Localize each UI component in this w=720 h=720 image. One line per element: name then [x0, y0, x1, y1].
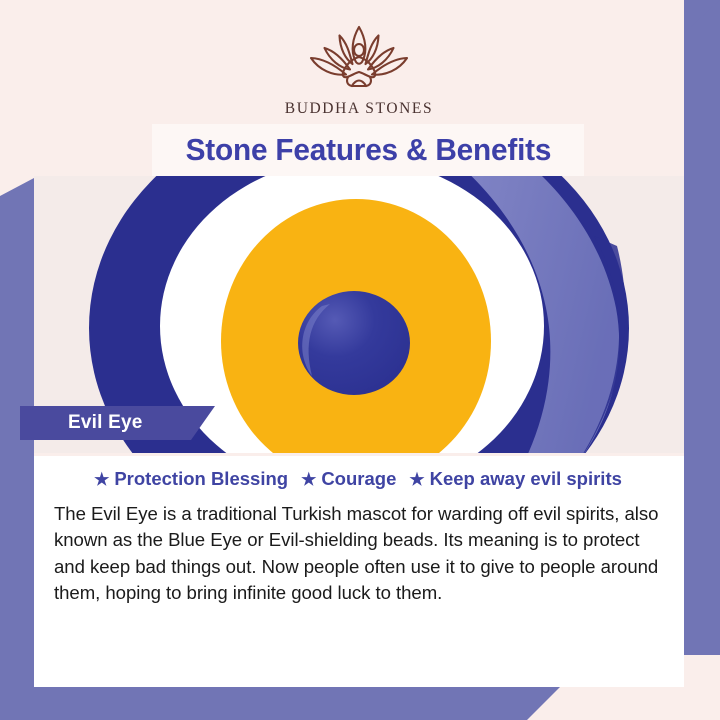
features-list: ★ Protection Blessing ★ Courage ★ Keep a…	[34, 456, 684, 490]
feature-item-protection-blessing: ★ Protection Blessing	[94, 468, 288, 490]
brand-wordmark: BUDDHA STONES	[285, 100, 433, 118]
page-title: Stone Features & Benefits	[185, 132, 551, 168]
title-plate: Stone Features & Benefits	[152, 124, 584, 176]
star-icon: ★	[409, 471, 424, 488]
feature-item-keep-away-evil-spirits: ★ Keep away evil spirits	[409, 468, 624, 490]
decor-band-left	[0, 178, 34, 720]
description-text: The Evil Eye is a traditional Turkish ma…	[54, 501, 664, 607]
feature-item-courage: ★ Courage	[301, 468, 396, 490]
content-card: ★ Protection Blessing ★ Courage ★ Keep a…	[34, 456, 684, 687]
evil-eye-name-tag: Evil Eye	[20, 406, 215, 440]
evil-eye-label: Evil Eye	[20, 412, 142, 434]
feature-label: Protection Blessing	[114, 468, 288, 490]
feature-label: Keep away evil spirits	[430, 468, 622, 490]
star-icon: ★	[94, 471, 109, 488]
brand-logo: BUDDHA STONES	[34, 22, 684, 118]
lotus-meditation-icon	[300, 22, 418, 96]
star-icon: ★	[301, 471, 316, 488]
poster-root: BUDDHA STONES Stone Features & Benefits	[0, 0, 720, 720]
decor-band-bottom	[0, 687, 560, 720]
feature-label: Courage	[321, 468, 396, 490]
decor-band-right	[684, 0, 720, 655]
